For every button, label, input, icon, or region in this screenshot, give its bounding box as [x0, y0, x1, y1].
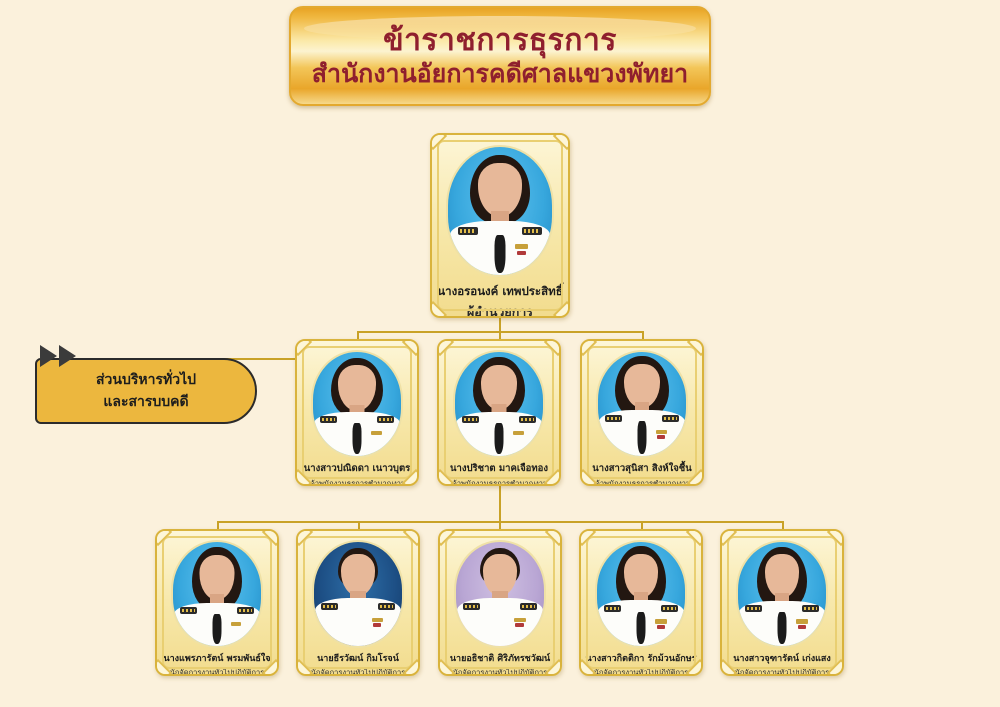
connector-mid-1 [357, 331, 359, 339]
corner-ornament [580, 339, 597, 356]
corner-ornament [545, 529, 562, 546]
corner-ornament [553, 301, 570, 318]
avatar [453, 350, 545, 458]
person-name: นางสาวปณิดดา เนาวบุตร [304, 464, 410, 475]
corner-ornament [155, 529, 172, 546]
corner-ornament [262, 529, 279, 546]
person-role: นักจัดการงานทั่วไปปฏิบัติการ [453, 669, 548, 676]
corner-ornament [402, 339, 419, 356]
corner-ornament [553, 133, 570, 150]
avatar [171, 540, 263, 648]
person-card-mid-1[interactable]: นางสาวปณิดดา เนาวบุตร เจ้าพนักงานธุรการช… [295, 339, 419, 486]
avatar [454, 540, 546, 648]
avatar [595, 540, 687, 648]
person-card-bot-2[interactable]: นายธีรวัฒน์ กิมโรจน์ นักจัดการงานทั่วไปป… [296, 529, 420, 676]
corner-ornament [827, 529, 844, 546]
person-role: ผู้อำนวยการ [467, 305, 533, 318]
triangle-right-icon [40, 345, 57, 367]
sidebar-label-line2: และสารบบคดี [103, 395, 188, 409]
header-title-line2: สำนักงานอัยการคดีศาลแขวงพัทยา [312, 61, 688, 87]
corner-ornament [579, 529, 596, 546]
corner-ornament [403, 659, 420, 676]
corner-ornament [403, 529, 420, 546]
person-name: นางสาวสุนิสา สิงห์ใจชื้น [592, 464, 692, 475]
connector-bot-2 [358, 521, 360, 529]
person-role: นักจัดการงานทั่วไปปฏิบัติการ [311, 669, 406, 676]
person-role: นักจัดการงานทั่วไปปฏิบัติการ [170, 669, 265, 676]
sidebar-arrow-group [40, 345, 76, 367]
person-card-mid-3[interactable]: นางสาวสุนิสา สิงห์ใจชื้น เจ้าพนักงานธุรก… [580, 339, 704, 486]
connector-spine-to-bottom [499, 486, 501, 521]
connector-mid-3 [642, 331, 644, 339]
person-card-mid-2[interactable]: นางปริชาต มาคเจือทอง เจ้าพนักงานธุรการชำ… [437, 339, 561, 486]
person-card-bot-1[interactable]: นางแพรภารัตน์ พรมพันธ์ใจ นักจัดการงานทั่… [155, 529, 279, 676]
sidebar-department-label[interactable]: ส่วนบริหารทั่วไป และสารบบคดี [35, 358, 257, 424]
person-name: นายอธิชาติ ศิริภัทรชวัฒน์ [450, 654, 550, 664]
header-title-line1: ข้าราชการธุรการ [383, 25, 617, 57]
header-banner: ข้าราชการธุรการ สำนักงานอัยการคดีศาลแขวง… [289, 6, 711, 106]
corner-ornament [686, 529, 703, 546]
corner-ornament [430, 301, 447, 318]
corner-ornament [544, 339, 561, 356]
connector-bot-3 [499, 521, 501, 529]
avatar [736, 540, 828, 648]
connector-bot-4 [641, 521, 643, 529]
person-role: เจ้าพนักงานธุรการชำนาญงาน [593, 480, 691, 486]
avatar [596, 350, 688, 458]
person-name: นายธีรวัฒน์ กิมโรจน์ [317, 654, 399, 664]
person-name: นางแพรภารัตน์ พรมพันธ์ใจ [163, 654, 270, 664]
person-card-bot-4[interactable]: นางสาวกิตติกา รักม้วนอักษร นักจัดการงานท… [579, 529, 703, 676]
person-name: นางสาวจุฑารัตน์ เก่งแสง [733, 654, 831, 664]
person-role: เจ้าพนักงานธุรการชำนาญงาน [308, 480, 406, 486]
avatar [312, 540, 404, 648]
corner-ornament [437, 339, 454, 356]
corner-ornament [296, 529, 313, 546]
corner-ornament [295, 339, 312, 356]
person-role: เจ้าพนักงานธุรการชำนาญงาน [450, 480, 548, 486]
person-role: นักจัดการงานทั่วไปปฏิบัติการ [594, 669, 689, 676]
corner-ornament [720, 529, 737, 546]
connector-bot-1 [217, 521, 219, 529]
person-name: นางสาวกิตติกา รักม้วนอักษร [585, 654, 696, 664]
person-card-bot-3[interactable]: นายอธิชาติ ศิริภัทรชวัฒน์ นักจัดการงานทั… [438, 529, 562, 676]
corner-ornament [430, 133, 447, 150]
header-banner-plate: ข้าราชการธุรการ สำนักงานอัยการคดีศาลแขวง… [289, 6, 711, 106]
sidebar-label-line1: ส่วนบริหารทั่วไป [96, 373, 196, 387]
corner-ornament [438, 529, 455, 546]
person-role: นักจัดการงานทั่วไปปฏิบัติการ [735, 669, 830, 676]
person-name: นางอรอนงค์ เทพประสิทธิ์ [437, 285, 562, 298]
connector-mid-2 [499, 331, 501, 339]
connector-bot-5 [782, 521, 784, 529]
person-card-director[interactable]: นางอรอนงค์ เทพประสิทธิ์ ผู้อำนวยการ [430, 133, 570, 318]
avatar [311, 350, 403, 458]
avatar [446, 145, 554, 277]
corner-ornament [687, 339, 704, 356]
person-card-bot-5[interactable]: นางสาวจุฑารัตน์ เก่งแสง นักจัดการงานทั่ว… [720, 529, 844, 676]
triangle-right-icon [59, 345, 76, 367]
person-name: นางปริชาต มาคเจือทอง [450, 464, 548, 475]
